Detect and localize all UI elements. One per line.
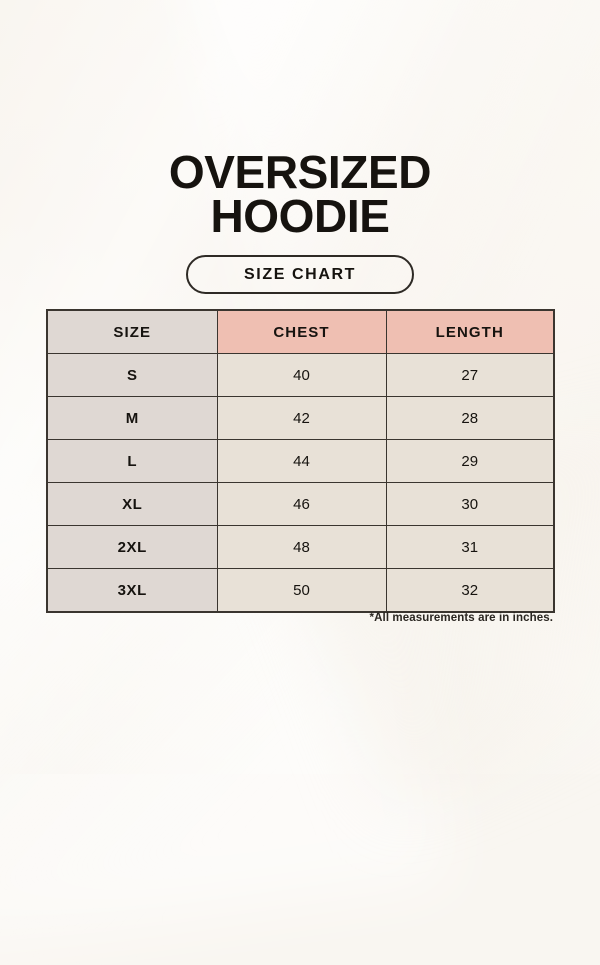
size-chart-table-container: SIZE CHEST LENGTH S 40 27 M 42 28 (46, 309, 553, 613)
cell-chest: 42 (217, 397, 386, 440)
cell-chest: 50 (217, 569, 386, 613)
cell-size: XL (47, 483, 217, 526)
size-chart-badge-container: SIZE CHART (0, 255, 600, 294)
cell-size: S (47, 354, 217, 397)
cell-length: 28 (386, 397, 554, 440)
column-header-length: LENGTH (386, 310, 554, 354)
table-row: XL 46 30 (47, 483, 554, 526)
table-row: 2XL 48 31 (47, 526, 554, 569)
cell-length: 30 (386, 483, 554, 526)
column-header-size: SIZE (47, 310, 217, 354)
cell-size: 3XL (47, 569, 217, 613)
title-line-2: HOODIE (0, 194, 600, 238)
cell-size: L (47, 440, 217, 483)
cell-size: 2XL (47, 526, 217, 569)
cell-length: 32 (386, 569, 554, 613)
title-line-1: OVERSIZED (0, 150, 600, 194)
table-row: 3XL 50 32 (47, 569, 554, 613)
cell-chest: 48 (217, 526, 386, 569)
cell-chest: 44 (217, 440, 386, 483)
column-header-chest: CHEST (217, 310, 386, 354)
cell-size: M (47, 397, 217, 440)
size-chart-table: SIZE CHEST LENGTH S 40 27 M 42 28 (46, 309, 555, 613)
cell-chest: 46 (217, 483, 386, 526)
cell-length: 27 (386, 354, 554, 397)
page-title: OVERSIZED HOODIE (0, 150, 600, 238)
table-row: M 42 28 (47, 397, 554, 440)
measurement-footnote: *All measurements are in inches. (46, 612, 553, 624)
cell-chest: 40 (217, 354, 386, 397)
cell-length: 29 (386, 440, 554, 483)
table-header-row: SIZE CHEST LENGTH (47, 310, 554, 354)
table-row: S 40 27 (47, 354, 554, 397)
cell-length: 31 (386, 526, 554, 569)
table-row: L 44 29 (47, 440, 554, 483)
size-chart-badge: SIZE CHART (186, 255, 414, 294)
size-chart-page: OVERSIZED HOODIE SIZE CHART SIZE CHEST L… (0, 0, 600, 774)
